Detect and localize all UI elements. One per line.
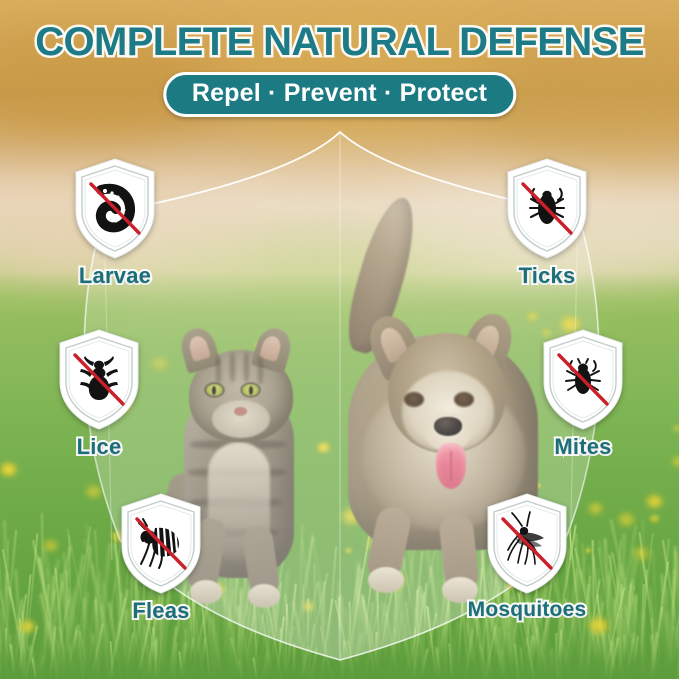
shield-shape-icon — [504, 157, 590, 261]
meadow-flower — [618, 513, 634, 526]
tagline-pill: Repel · Prevent · Protect — [163, 72, 516, 117]
dog-paw-left — [368, 567, 404, 593]
badge-fleas[interactable]: Fleas — [106, 492, 216, 624]
cat-muzzle — [212, 400, 270, 438]
page-title: COMPLETE NATURAL DEFENSE — [0, 20, 679, 65]
badge-lice[interactable]: Lice — [44, 328, 154, 460]
badge-label-lice: Lice — [77, 434, 122, 460]
shield-shape-icon — [484, 492, 570, 596]
shield-mites — [540, 328, 626, 432]
cat-forehead-stripe — [258, 356, 263, 384]
cat-pupil-left — [212, 386, 216, 395]
shield-lice — [56, 328, 142, 432]
shield-shape-icon — [56, 328, 142, 432]
cat-pupil-right — [249, 386, 253, 395]
dog-eye-right — [455, 393, 473, 406]
meadow-flower — [0, 463, 17, 476]
badge-mites[interactable]: Mites — [528, 328, 638, 460]
badge-label-mosquitoes: Mosquitoes — [468, 598, 587, 622]
promo-image: Larvae — [0, 0, 679, 679]
grass-blade — [293, 643, 295, 673]
shield-mosquitoes — [484, 492, 570, 596]
grass-blade — [83, 598, 86, 678]
badge-label-ticks: Ticks — [519, 263, 576, 289]
cat-forehead-stripe — [216, 356, 221, 384]
cat-forehead-stripe — [244, 352, 249, 382]
badge-ticks[interactable]: Ticks — [492, 157, 602, 289]
shield-shape-icon — [72, 157, 158, 261]
meadow-flower — [588, 618, 608, 633]
tagline-text: Repel · Prevent · Protect — [192, 79, 487, 108]
cat-forehead-stripe — [230, 352, 235, 382]
cat-paw-right — [248, 584, 280, 608]
badge-label-larvae: Larvae — [79, 263, 151, 289]
meadow-flower — [672, 456, 679, 467]
shield-shape-icon — [540, 328, 626, 432]
shield-shape-icon — [118, 492, 204, 596]
meadow-flower — [585, 548, 591, 553]
dog-nose — [434, 417, 462, 436]
shield-larvae — [72, 157, 158, 261]
shield-ticks — [504, 157, 590, 261]
meadow-flower — [673, 424, 679, 432]
badge-mosquitoes[interactable]: Mosquitoes — [472, 492, 582, 622]
shield-fleas — [118, 492, 204, 596]
meadow-flower — [649, 514, 659, 522]
cat-nose — [234, 407, 247, 416]
header: COMPLETE NATURAL DEFENSE Repel · Prevent… — [0, 0, 679, 122]
badge-label-mites: Mites — [554, 434, 611, 460]
dog-tongue-crease — [450, 451, 452, 481]
dog-eye-left — [405, 393, 423, 406]
meadow-flower — [589, 502, 604, 513]
badge-larvae[interactable]: Larvae — [60, 157, 170, 289]
badge-label-fleas: Fleas — [132, 598, 189, 624]
